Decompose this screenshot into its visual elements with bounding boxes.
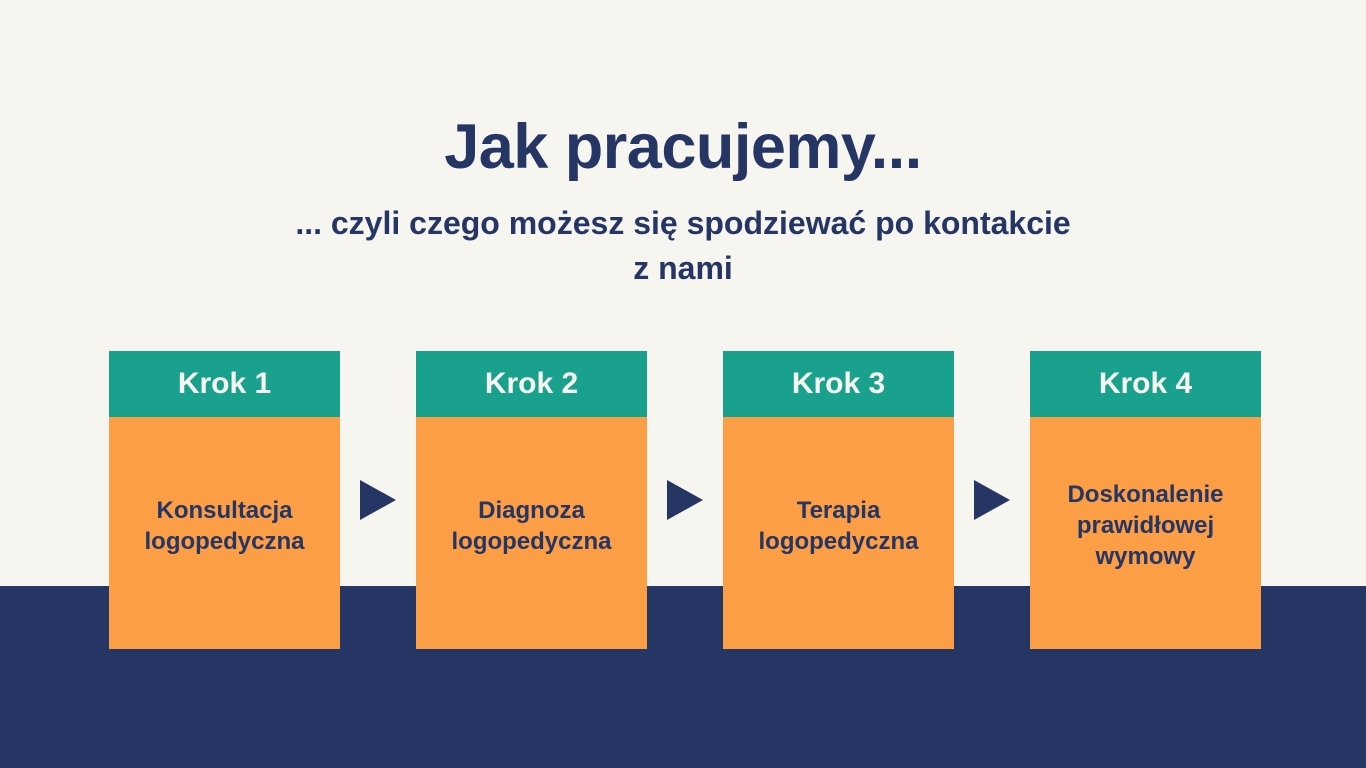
page-subtitle-line-2: z nami [0,246,1366,291]
page-subtitle: ... czyli czego możesz się spodziewać po… [0,201,1366,292]
page-title: Jak pracujemy... [0,116,1366,179]
step-card-1-body-label: Konsultacja logopedyczna [138,495,310,557]
triangle-right-icon [667,480,703,520]
step-card-1-header: Krok 1 [109,351,340,417]
step-card-4-body: Doskonalenie prawidłowej wymowy [1030,417,1261,649]
step-card-2-body-label: Diagnoza logopedyczna [445,495,617,557]
header-block: Jak pracujemy... ... czyli czego możesz … [0,0,1366,292]
step-separator-2 [647,351,723,649]
step-separator-3 [954,351,1030,649]
page-subtitle-line-1: ... czyli czego możesz się spodziewać po… [0,201,1366,246]
step-card-4-header-label: Krok 4 [1099,369,1192,399]
step-card-2-header-label: Krok 2 [485,369,578,399]
step-card-2-body: Diagnoza logopedyczna [416,417,647,649]
step-card-2-header: Krok 2 [416,351,647,417]
step-card-1[interactable]: Krok 1 Konsultacja logopedyczna [109,351,340,649]
step-card-1-body: Konsultacja logopedyczna [109,417,340,649]
step-card-3-body-label: Terapia logopedyczna [752,495,924,557]
steps-row: Krok 1 Konsultacja logopedyczna Krok 2 D… [109,351,1257,649]
triangle-right-icon [360,480,396,520]
step-card-3-header: Krok 3 [723,351,954,417]
step-card-4[interactable]: Krok 4 Doskonalenie prawidłowej wymowy [1030,351,1261,649]
step-card-1-header-label: Krok 1 [178,369,271,399]
step-card-3[interactable]: Krok 3 Terapia logopedyczna [723,351,954,649]
step-card-4-body-label: Doskonalenie prawidłowej wymowy [1061,479,1229,573]
step-card-4-header: Krok 4 [1030,351,1261,417]
step-card-3-body: Terapia logopedyczna [723,417,954,649]
triangle-right-icon [974,480,1010,520]
step-card-2[interactable]: Krok 2 Diagnoza logopedyczna [416,351,647,649]
step-card-3-header-label: Krok 3 [792,369,885,399]
step-separator-1 [340,351,416,649]
